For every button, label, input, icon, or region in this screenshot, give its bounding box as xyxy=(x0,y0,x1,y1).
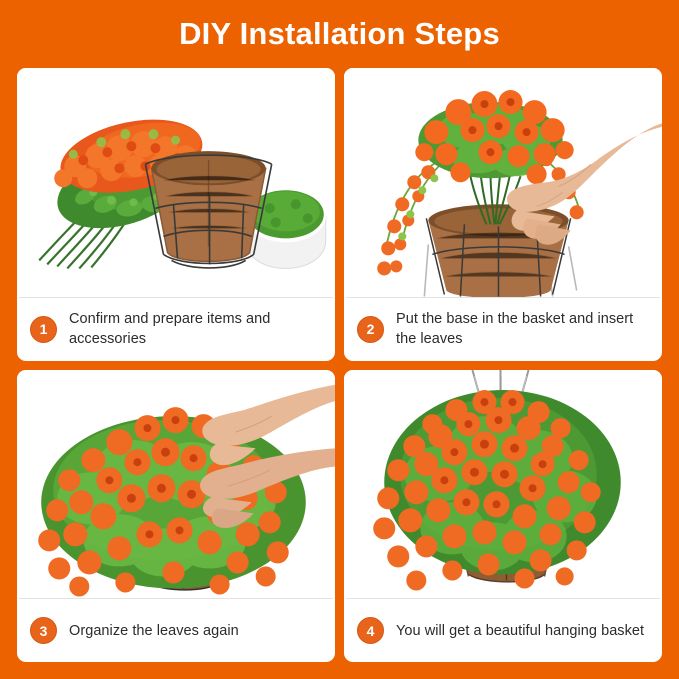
step-caption-3: 3 Organize the leaves again xyxy=(17,599,335,662)
step-number-badge: 2 xyxy=(357,316,384,343)
page-title: DIY Installation Steps xyxy=(17,0,662,68)
step-number-badge: 3 xyxy=(30,617,57,644)
step-caption-1: 1 Confirm and prepare items and accessor… xyxy=(17,298,335,361)
photo-finished-hanging-basket xyxy=(344,370,662,599)
step-caption-2: 2 Put the base in the basket and insert … xyxy=(344,298,662,361)
photo-hands-organizing-leaves xyxy=(17,370,335,599)
step-caption-4: 4 You will get a beautiful hanging baske… xyxy=(344,599,662,662)
step-number-badge: 4 xyxy=(357,617,384,644)
step-caption-text: Put the base in the basket and insert th… xyxy=(396,309,652,349)
step-card-3[interactable]: 3 Organize the leaves again xyxy=(17,370,335,663)
step-card-4[interactable]: 4 You will get a beautiful hanging baske… xyxy=(344,370,662,663)
photo-flowers-basket-moss xyxy=(17,68,335,297)
step-card-1[interactable]: 1 Confirm and prepare items and accessor… xyxy=(17,68,335,361)
diy-steps-page: DIY Installation Steps xyxy=(0,0,679,679)
step-caption-text: You will get a beautiful hanging basket xyxy=(396,621,644,641)
step-number-badge: 1 xyxy=(30,316,57,343)
photo-hand-inserting-leaves xyxy=(344,68,662,297)
step-caption-text: Organize the leaves again xyxy=(69,621,239,641)
step-card-2[interactable]: 2 Put the base in the basket and insert … xyxy=(344,68,662,361)
steps-grid: 1 Confirm and prepare items and accessor… xyxy=(17,68,662,662)
step-caption-text: Confirm and prepare items and accessorie… xyxy=(69,309,325,349)
